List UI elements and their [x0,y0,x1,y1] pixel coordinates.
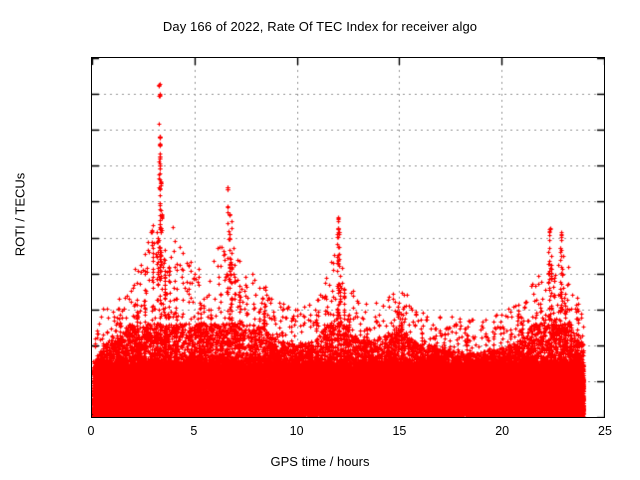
scatter-plot-canvas [92,58,604,417]
y-axis-title: ROTI / TECUs [13,150,28,280]
x-axis-title: GPS time / hours [0,454,640,469]
chart-page: Day 166 of 2022, Rate Of TEC Index for r… [0,0,640,480]
x-tick-label: 15 [392,424,406,438]
x-tick-label: 20 [495,424,509,438]
chart-title: Day 166 of 2022, Rate Of TEC Index for r… [0,19,640,34]
x-tick-label: 0 [88,424,95,438]
plot-area [91,57,605,418]
x-tick-label: 25 [598,424,612,438]
x-tick-label: 10 [290,424,304,438]
x-tick-label: 5 [190,424,197,438]
